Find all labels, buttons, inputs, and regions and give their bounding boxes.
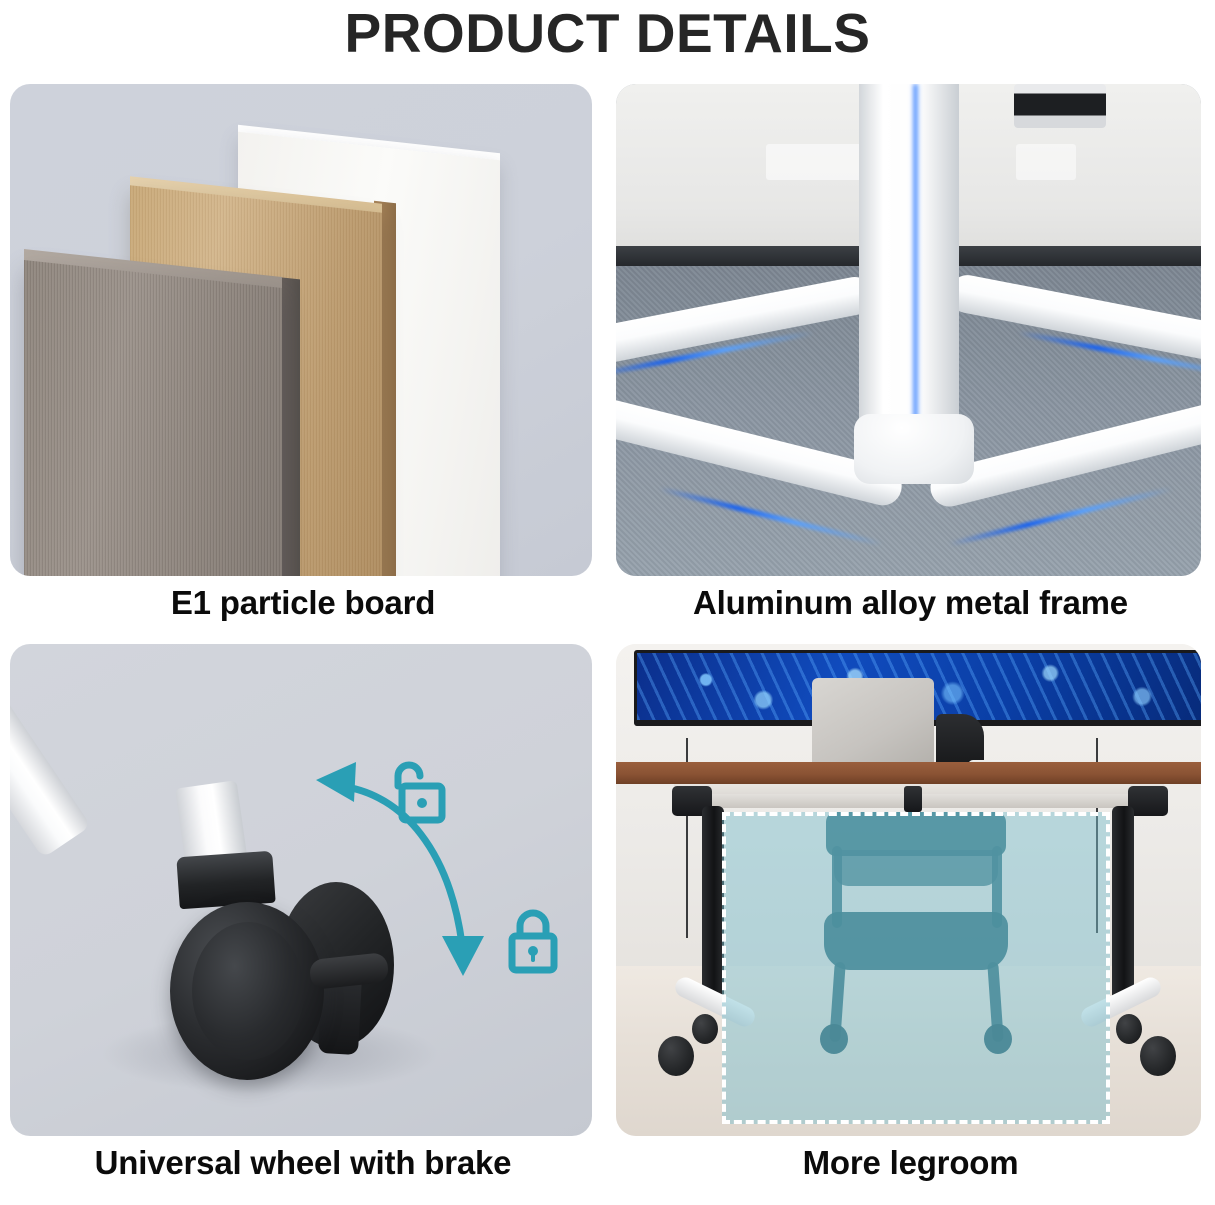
universal-wheel-image (10, 644, 592, 1136)
desk-top-surface (616, 762, 1201, 784)
glow-line-column (912, 84, 920, 436)
caption-universal-wheel: Universal wheel with brake (0, 1144, 606, 1182)
frame-junction-hub (854, 414, 974, 484)
more-legroom-image (616, 644, 1201, 1136)
panel-aluminum-frame: Aluminum alloy metal frame (606, 84, 1215, 644)
legroom-area-highlight (722, 812, 1110, 1124)
desk-bracket-center (904, 786, 922, 812)
lock-icon (498, 906, 568, 981)
desk-caster-outer-left (658, 1036, 694, 1076)
caption-particle-board: E1 particle board (0, 584, 606, 622)
panel-particle-board: E1 particle board (0, 84, 606, 644)
panel-more-legroom: More legroom (606, 644, 1215, 1205)
product-details-grid: E1 particle board Aluminum alloy metal f… (0, 84, 1215, 1205)
desk-caster-inner-left (692, 1014, 718, 1044)
desk-leg-right (1112, 806, 1134, 1002)
monitor-arm (936, 714, 984, 764)
desk-caster-outer-right (1140, 1036, 1176, 1076)
center-column (859, 84, 959, 440)
gray-woodgrain-board (24, 260, 282, 576)
wall-panel-left (766, 144, 866, 180)
desk-bracket-right (1128, 786, 1168, 816)
page-title: PRODUCT DETAILS (0, 0, 1215, 64)
caster-collar (176, 851, 275, 910)
panel-universal-wheel: Universal wheel with brake (0, 644, 606, 1205)
aluminum-frame-image (616, 84, 1201, 576)
wall-panel-right (1016, 144, 1076, 180)
desk-leg-left (702, 806, 724, 1002)
laptop (812, 678, 934, 768)
caption-more-legroom: More legroom (606, 1144, 1215, 1182)
wall-fixture (1014, 84, 1106, 128)
curved-double-arrow-icon (310, 744, 510, 989)
particle-board-image (10, 84, 592, 576)
caption-aluminum-frame: Aluminum alloy metal frame (606, 584, 1215, 622)
desk-caster-inner-right (1116, 1014, 1142, 1044)
caster-wheel-hubcap (192, 922, 304, 1060)
table-leg-upper (10, 652, 91, 859)
